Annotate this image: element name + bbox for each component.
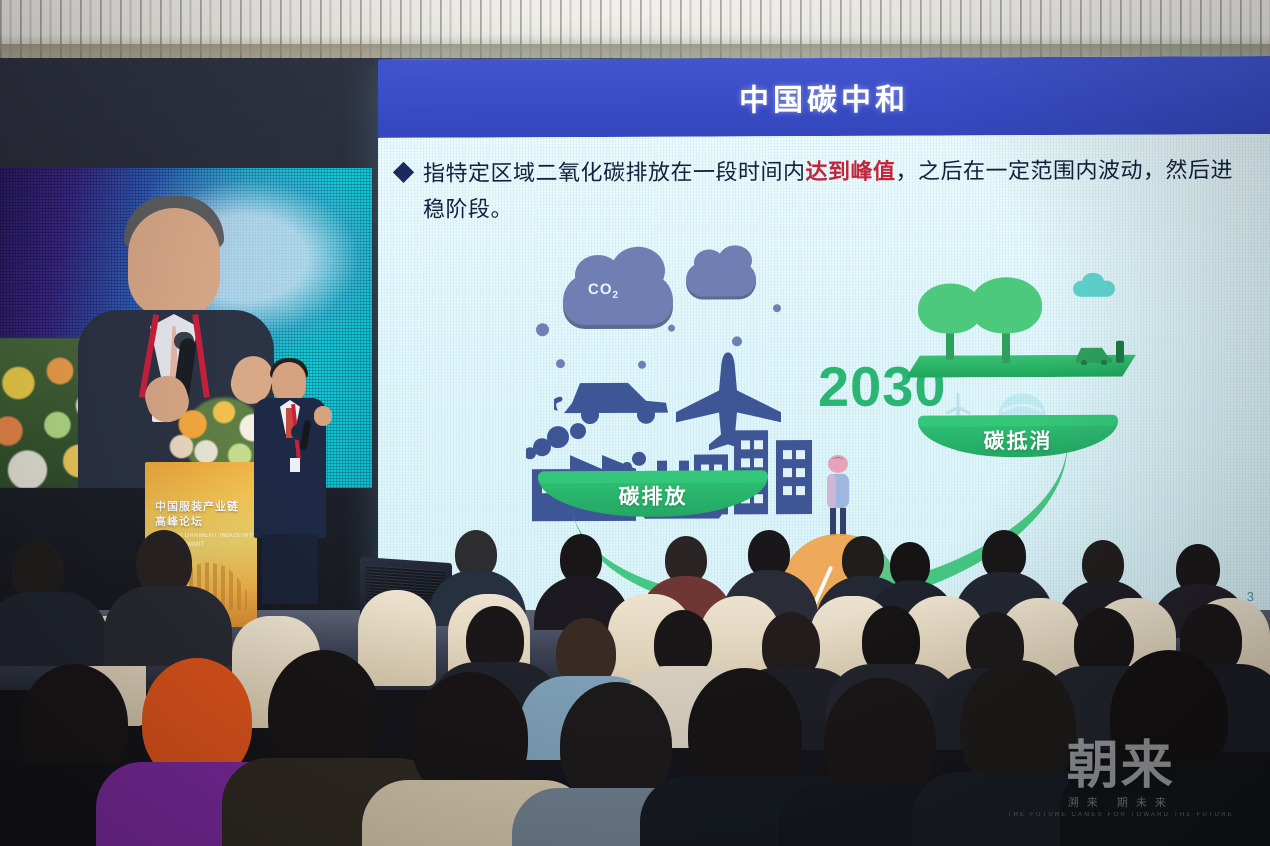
watermark-main-text: 朝来	[1008, 723, 1234, 798]
bullet-line-2: 稳阶段。	[423, 188, 1270, 227]
screen-speaker-head	[128, 208, 220, 318]
slide-header-bar: 中国碳中和	[378, 56, 1270, 138]
stage-speaker-hand	[314, 406, 332, 426]
particle-dot	[732, 336, 742, 346]
conference-hall-scene: 中国碳中和 指特定区域二氧化碳排放在一段时间内达到峰值，之后在一定范围内波动，然…	[0, 0, 1270, 846]
bullet-text-part-b: ，之后在一定范围内波动，然后进	[896, 157, 1234, 183]
watermark: 朝来 溯来 期未来 THE FUTURE CAMES FOR TOWARD TH…	[1008, 723, 1234, 818]
slide-title: 中国碳中和	[739, 75, 909, 120]
bullet-text-part-a: 指特定区域二氧化碳排放在一段时间内	[423, 159, 806, 186]
watermark-cn-subtitle: 溯来 期未来	[1008, 794, 1234, 810]
stage-speaker-badge	[290, 458, 300, 472]
watermark-en-subtitle: THE FUTURE CAMES FOR TOWARD THE FUTURE	[1008, 812, 1234, 818]
diamond-bullet-icon	[393, 162, 414, 183]
particle-dot	[773, 304, 781, 312]
small-cloud-icon	[686, 262, 756, 296]
ev-charger-icon	[1074, 339, 1126, 365]
audience-shoulders	[0, 592, 108, 666]
audience-chair	[358, 590, 436, 686]
stage-speaker-head	[272, 362, 306, 402]
tree-icon	[970, 277, 1042, 363]
slide-bullet-block: 指特定区域二氧化碳排放在一段时间内达到峰值，之后在一定范围内波动，然后进 稳阶段…	[396, 152, 1270, 227]
bullet-highlight: 达到峰值	[806, 159, 896, 184]
offset-pan: 碳抵消	[918, 421, 1118, 458]
particle-dot	[536, 323, 549, 336]
audience-shoulders	[104, 586, 232, 666]
co2-label: CO2	[588, 281, 619, 301]
bullet-line-1: 指特定区域二氧化碳排放在一段时间内达到峰值，之后在一定范围内波动，然后进	[423, 152, 1233, 191]
particle-dot	[668, 325, 675, 332]
particle-dot	[556, 359, 565, 368]
particle-dot	[638, 361, 646, 369]
offset-pan-label: 碳抵消	[918, 425, 1118, 456]
teal-cloud-icon	[1073, 281, 1115, 297]
